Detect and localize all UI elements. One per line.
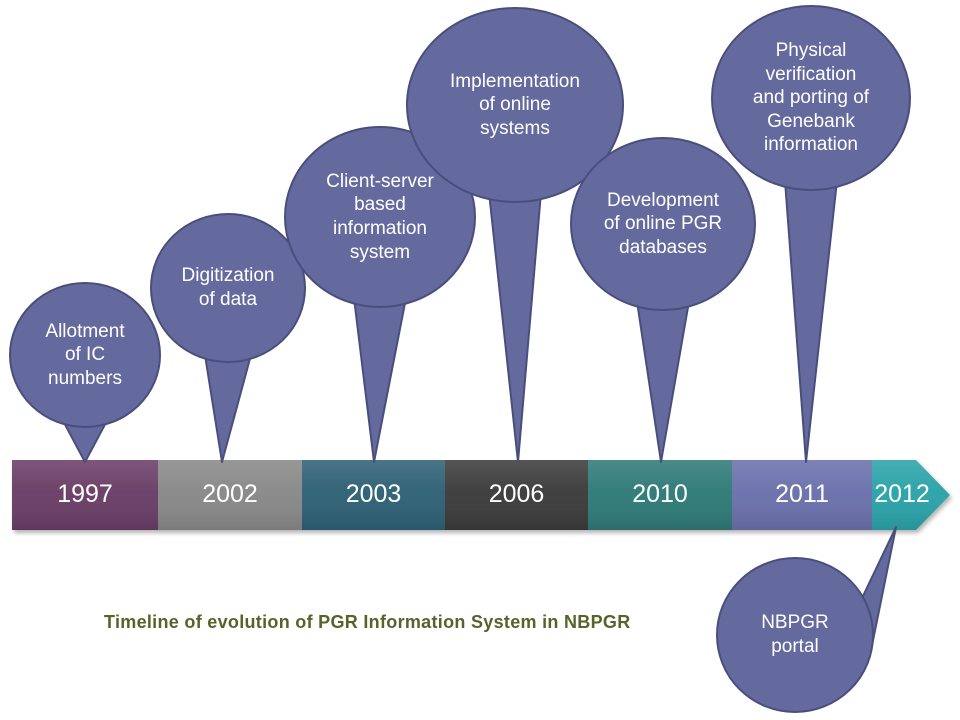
callout-2002-bubble[interactable] <box>151 214 305 362</box>
timeline-segment-sheen <box>588 460 732 530</box>
callout-2003-tail <box>354 298 406 462</box>
timeline-segment-sheen <box>872 460 950 530</box>
callout-bubbles <box>10 6 910 712</box>
timeline-segment-sheen <box>445 460 588 530</box>
timeline-segment-sheen <box>302 460 445 530</box>
callout-2006-tail <box>489 192 541 462</box>
timeline-segment-sheen <box>732 460 872 530</box>
callout-2010-bubble[interactable] <box>571 138 755 310</box>
timeline-segment-sheen <box>158 460 302 530</box>
callout-2002-tail <box>205 355 251 462</box>
timeline-figure: 1997200220032006201020112012 Allotment o… <box>0 0 960 720</box>
callout-1997-bubble[interactable] <box>10 283 160 427</box>
callout-2011-bubble[interactable] <box>712 6 910 190</box>
figure-caption: Timeline of evolution of PGR Information… <box>104 612 724 633</box>
callout-2012-bubble[interactable] <box>717 558 873 712</box>
timeline-segment-sheen <box>12 460 158 530</box>
callout-2010-tail <box>637 301 689 462</box>
timeline-bar <box>12 460 950 530</box>
callout-2011-tail <box>785 181 837 462</box>
